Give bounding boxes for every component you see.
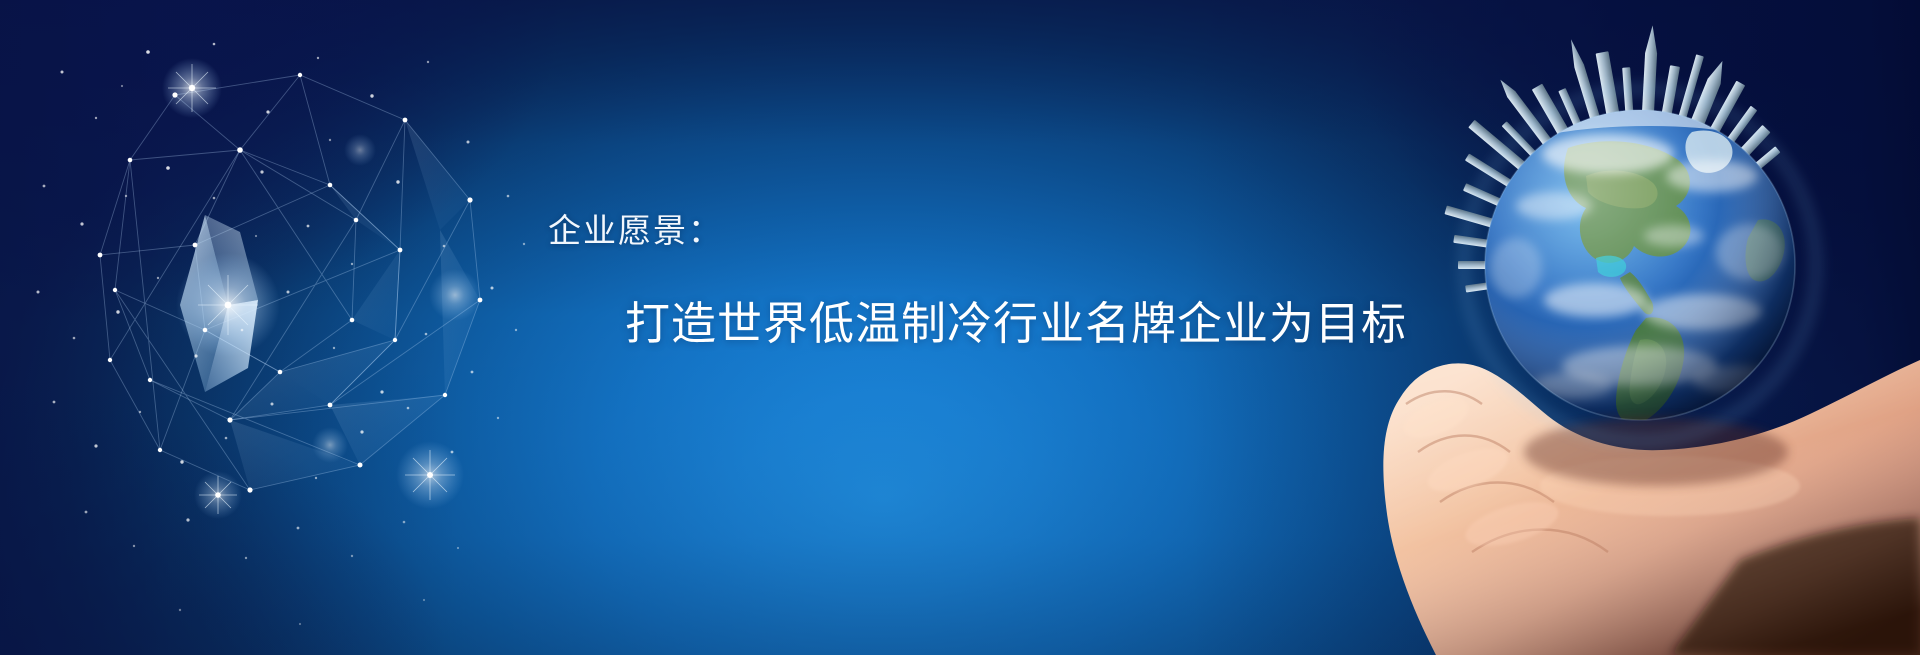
banner-eyebrow: 企业愿景： xyxy=(548,212,723,250)
hero-banner: 企业愿景： 打造世界低温制冷行业名牌企业为目标 xyxy=(0,0,1920,655)
banner-headline: 打造世界低温制冷行业名牌企业为目标 xyxy=(625,299,1407,349)
banner-copy: 企业愿景： 打造世界低温制冷行业名牌企业为目标 xyxy=(0,0,1920,655)
